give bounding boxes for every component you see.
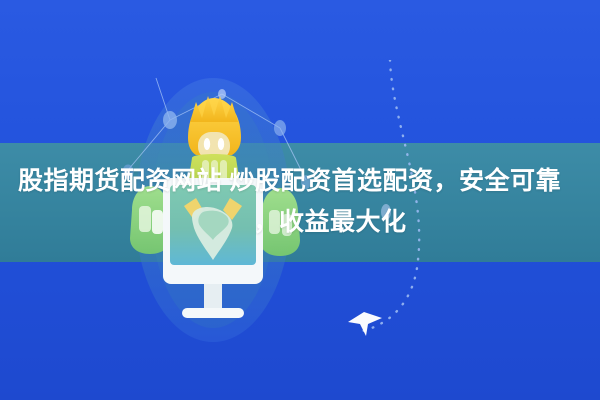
page-title: 股指期货配资网站 炒股配资首选配资，安全可靠 ，收益最大化: [0, 143, 600, 262]
banner-image: 股指期货配资网站 炒股配资首选配资，安全可靠 ，收益最大化: [0, 0, 600, 400]
headline-line-1: 股指期货配资网站 炒股配资首选配资，安全可靠: [18, 161, 582, 202]
headline-line-2: ，收益最大化: [18, 202, 582, 243]
